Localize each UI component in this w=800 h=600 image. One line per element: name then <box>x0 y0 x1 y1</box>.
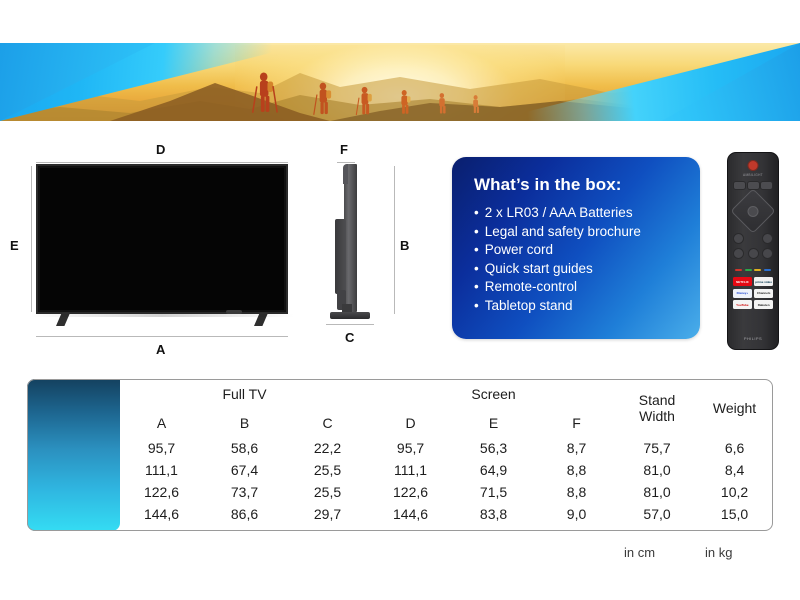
cell-stand-width: 75,7 <box>618 437 696 459</box>
box-panel-title: What’s in the box: <box>474 175 684 195</box>
cell-e: 83,8 <box>452 503 535 525</box>
cell-b: 58,6 <box>203 437 286 459</box>
ambilight-label: AMBILIGHT <box>743 173 763 177</box>
dim-line-a <box>36 336 288 337</box>
list-item: Tabletop stand <box>474 297 684 316</box>
source-icon <box>733 181 746 190</box>
tv-side-connector-block <box>335 219 346 294</box>
stand-width-line2: Width <box>639 408 675 424</box>
tv-side-illustration <box>330 164 376 334</box>
model-number-cell: 8009 <box>27 379 120 437</box>
box-contents-list: 2 x LR03 / AAA Batteries Legal and safet… <box>474 204 684 315</box>
row-size-label: 43” <box>27 437 120 459</box>
cell-b: 73,7 <box>203 481 286 503</box>
power-icon <box>748 160 759 171</box>
list-item: 2 x LR03 / AAA Batteries <box>474 204 684 223</box>
settings-icon <box>760 181 773 190</box>
column-header-e: E <box>452 409 535 437</box>
blue-key-icon <box>764 269 771 271</box>
prime-video-button: prime video <box>754 277 773 286</box>
side-view-label-f: F <box>340 142 348 157</box>
side-view-label-b: B <box>400 238 409 253</box>
dim-line-d <box>36 162 288 163</box>
row-size-label: 55” <box>27 481 120 503</box>
table-units-row: in cm in kg <box>27 545 773 565</box>
dim-line-f <box>337 162 355 163</box>
red-key-icon <box>735 269 742 271</box>
cell-stand-width: 81,0 <box>618 481 696 503</box>
list-item: Legal and safety brochure <box>474 223 684 242</box>
cell-a: 95,7 <box>120 437 203 459</box>
dim-line-e <box>31 166 32 312</box>
remote-volume-row <box>733 248 773 259</box>
column-header-d: D <box>369 409 452 437</box>
dim-line-b <box>394 166 395 314</box>
column-header-b: B <box>203 409 286 437</box>
unit-label-cm: in cm <box>624 545 655 560</box>
table-group-header-row: 8009 Full TV Screen Stand Width Weight <box>27 379 773 409</box>
cell-weight: 8,4 <box>696 459 773 481</box>
tv-front-illustration <box>36 164 288 314</box>
cell-c: 25,5 <box>286 481 369 503</box>
green-key-icon <box>745 269 752 271</box>
cell-d: 144,6 <box>369 503 452 525</box>
dim-line-c <box>326 324 374 325</box>
table-row: 55” 122,6 73,7 25,5 122,6 71,5 8,8 81,0 … <box>27 481 773 503</box>
table-row: 65” 144,6 86,6 29,7 144,6 83,8 9,0 57,0 … <box>27 503 773 525</box>
front-view-label-e: E <box>10 238 19 253</box>
row-size-label: 50” <box>27 459 120 481</box>
rakuten-button: Rakuten <box>754 300 773 309</box>
cell-f: 8,7 <box>535 437 618 459</box>
channels-button: Channels <box>754 289 773 298</box>
cell-f: 8,8 <box>535 481 618 503</box>
dimensions-table-container: 8009 Full TV Screen Stand Width Weight A… <box>27 379 773 525</box>
hero-banner <box>0 43 800 121</box>
remote-nav-row <box>733 233 773 244</box>
tv-side-top-curve <box>343 164 348 184</box>
cell-d: 122,6 <box>369 481 452 503</box>
tv-stand-base <box>330 312 370 319</box>
back-icon <box>733 233 744 244</box>
cell-a: 144,6 <box>120 503 203 525</box>
cell-stand-width: 57,0 <box>618 503 696 525</box>
table-row: 50” 111,1 67,4 25,5 111,1 64,9 8,8 81,0 … <box>27 459 773 481</box>
stand-width-line1: Stand <box>639 392 676 408</box>
netflix-button: NETFLIX <box>733 277 752 286</box>
cell-f: 9,0 <box>535 503 618 525</box>
volume-icon <box>733 248 744 259</box>
cell-c: 25,5 <box>286 459 369 481</box>
column-header-stand-width: Stand Width <box>618 379 696 437</box>
row-size-label: 65” <box>27 503 120 525</box>
front-view-label-a: A <box>156 342 165 357</box>
cell-e: 64,9 <box>452 459 535 481</box>
cell-a: 122,6 <box>120 481 203 503</box>
home-icon <box>762 233 773 244</box>
tv-bezel <box>36 164 288 314</box>
cell-e: 56,3 <box>452 437 535 459</box>
channel-icon <box>762 248 773 259</box>
app-shortcut-grid: NETFLIX prime video Disney+ Channels You… <box>733 277 773 309</box>
cell-stand-width: 81,0 <box>618 459 696 481</box>
column-header-c: C <box>286 409 369 437</box>
youtube-button: YouTube <box>733 300 752 309</box>
philips-remote-control: AMBILIGHT NETFLIX prime video Disney+ Ch… <box>727 152 779 350</box>
mute-icon <box>748 248 759 259</box>
cell-f: 8,8 <box>535 459 618 481</box>
list-item: Quick start guides <box>474 260 684 279</box>
cell-d: 95,7 <box>369 437 452 459</box>
whats-in-the-box-panel: What’s in the box: 2 x LR03 / AAA Batter… <box>452 157 700 339</box>
dimensions-table: 8009 Full TV Screen Stand Width Weight A… <box>27 379 773 525</box>
philips-brand-label: PHILIPS <box>728 336 778 341</box>
cell-d: 111,1 <box>369 459 452 481</box>
group-header-screen: Screen <box>369 379 618 409</box>
cell-e: 71,5 <box>452 481 535 503</box>
group-header-full-tv: Full TV <box>120 379 369 409</box>
yellow-key-icon <box>754 269 761 271</box>
ok-button-icon <box>748 206 759 217</box>
cell-weight: 6,6 <box>696 437 773 459</box>
unit-label-kg: in kg <box>705 545 732 560</box>
cell-b: 67,4 <box>203 459 286 481</box>
cell-c: 29,7 <box>286 503 369 525</box>
column-header-a: A <box>120 409 203 437</box>
list-item: Remote-control <box>474 278 684 297</box>
cell-b: 86,6 <box>203 503 286 525</box>
list-item: Power cord <box>474 241 684 260</box>
front-view-label-d: D <box>156 142 165 157</box>
cell-weight: 10,2 <box>696 481 773 503</box>
cell-weight: 15,0 <box>696 503 773 525</box>
column-header-f: F <box>535 409 618 437</box>
tv-base-shadow <box>30 314 294 317</box>
cell-c: 22,2 <box>286 437 369 459</box>
table-row: 43” 95,7 58,6 22,2 95,7 56,3 8,7 75,7 6,… <box>27 437 773 459</box>
column-header-weight: Weight <box>696 379 773 437</box>
disney-plus-button: Disney+ <box>733 289 752 298</box>
tv-screen <box>40 168 284 310</box>
side-view-label-c: C <box>345 330 354 345</box>
cell-a: 111,1 <box>120 459 203 481</box>
color-keys-row <box>735 269 771 271</box>
